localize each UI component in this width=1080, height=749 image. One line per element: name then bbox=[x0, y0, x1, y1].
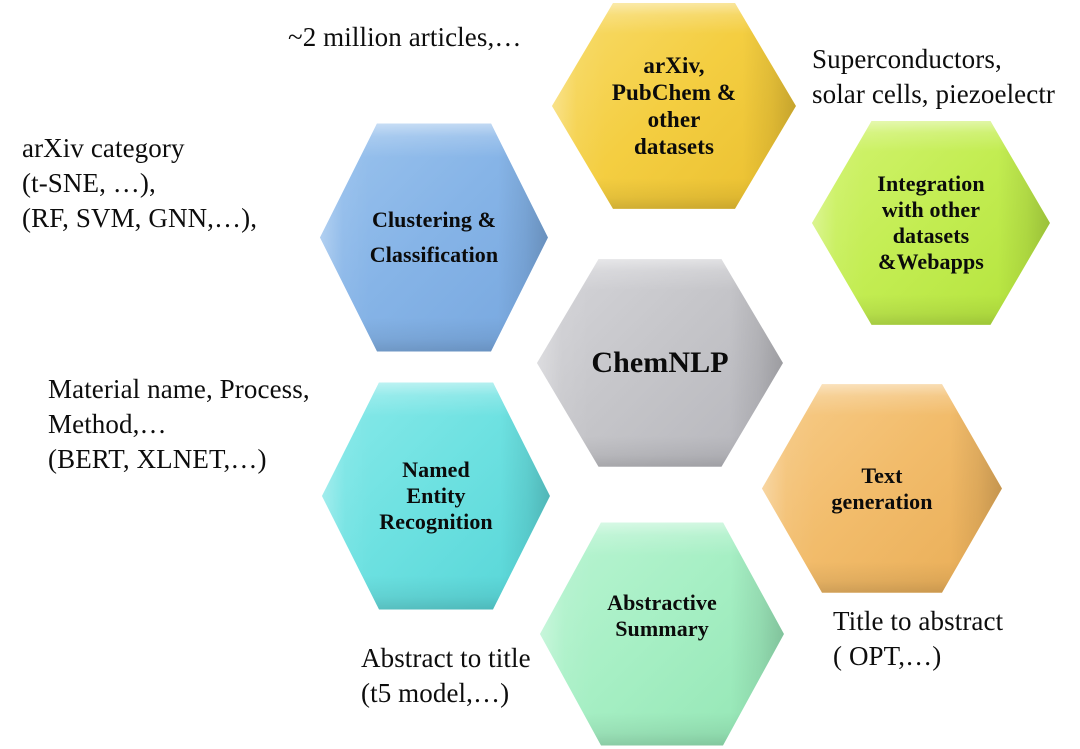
hexagon-clustering[interactable]: Clustering & Classification bbox=[320, 120, 548, 355]
hexagon-summary[interactable]: Abstractive Summary bbox=[540, 519, 784, 749]
hexagon-label-textgen: Text generation bbox=[798, 463, 966, 515]
hexagon-integration[interactable]: Integration with other datasets &Webapps bbox=[812, 118, 1050, 328]
diagram-canvas: ~2 million articles,… arXiv category (t-… bbox=[0, 0, 1080, 749]
hexagon-label-datasets: arXiv, PubChem & other datasets bbox=[578, 52, 771, 161]
hexagon-datasets[interactable]: arXiv, PubChem & other datasets bbox=[552, 0, 796, 212]
caption-ner: Material name, Process, Method,… (BERT, … bbox=[48, 372, 378, 477]
hexagon-textgen[interactable]: Text generation bbox=[762, 381, 1002, 596]
hexagon-label-integration: Integration with other datasets &Webapps bbox=[853, 171, 1008, 275]
caption-textgen: Title to abstract ( OPT,…) bbox=[833, 604, 1063, 674]
hexagon-label-summary: Abstractive Summary bbox=[592, 590, 731, 642]
caption-datasets: ~2 million articles,… bbox=[288, 20, 558, 55]
hexagon-label-ner: Named Entity Recognition bbox=[366, 457, 507, 535]
hexagon-label-chemnlp: ChemNLP bbox=[557, 345, 763, 380]
caption-clustering: arXiv category (t-SNE, …), (RF, SVM, GNN… bbox=[22, 131, 342, 236]
hexagon-label-clustering: Clustering & Classification bbox=[352, 203, 517, 271]
caption-integration: Superconductors, solar cells, piezoelect… bbox=[812, 42, 1080, 112]
hexagon-center-chemnlp[interactable]: ChemNLP bbox=[537, 256, 783, 470]
